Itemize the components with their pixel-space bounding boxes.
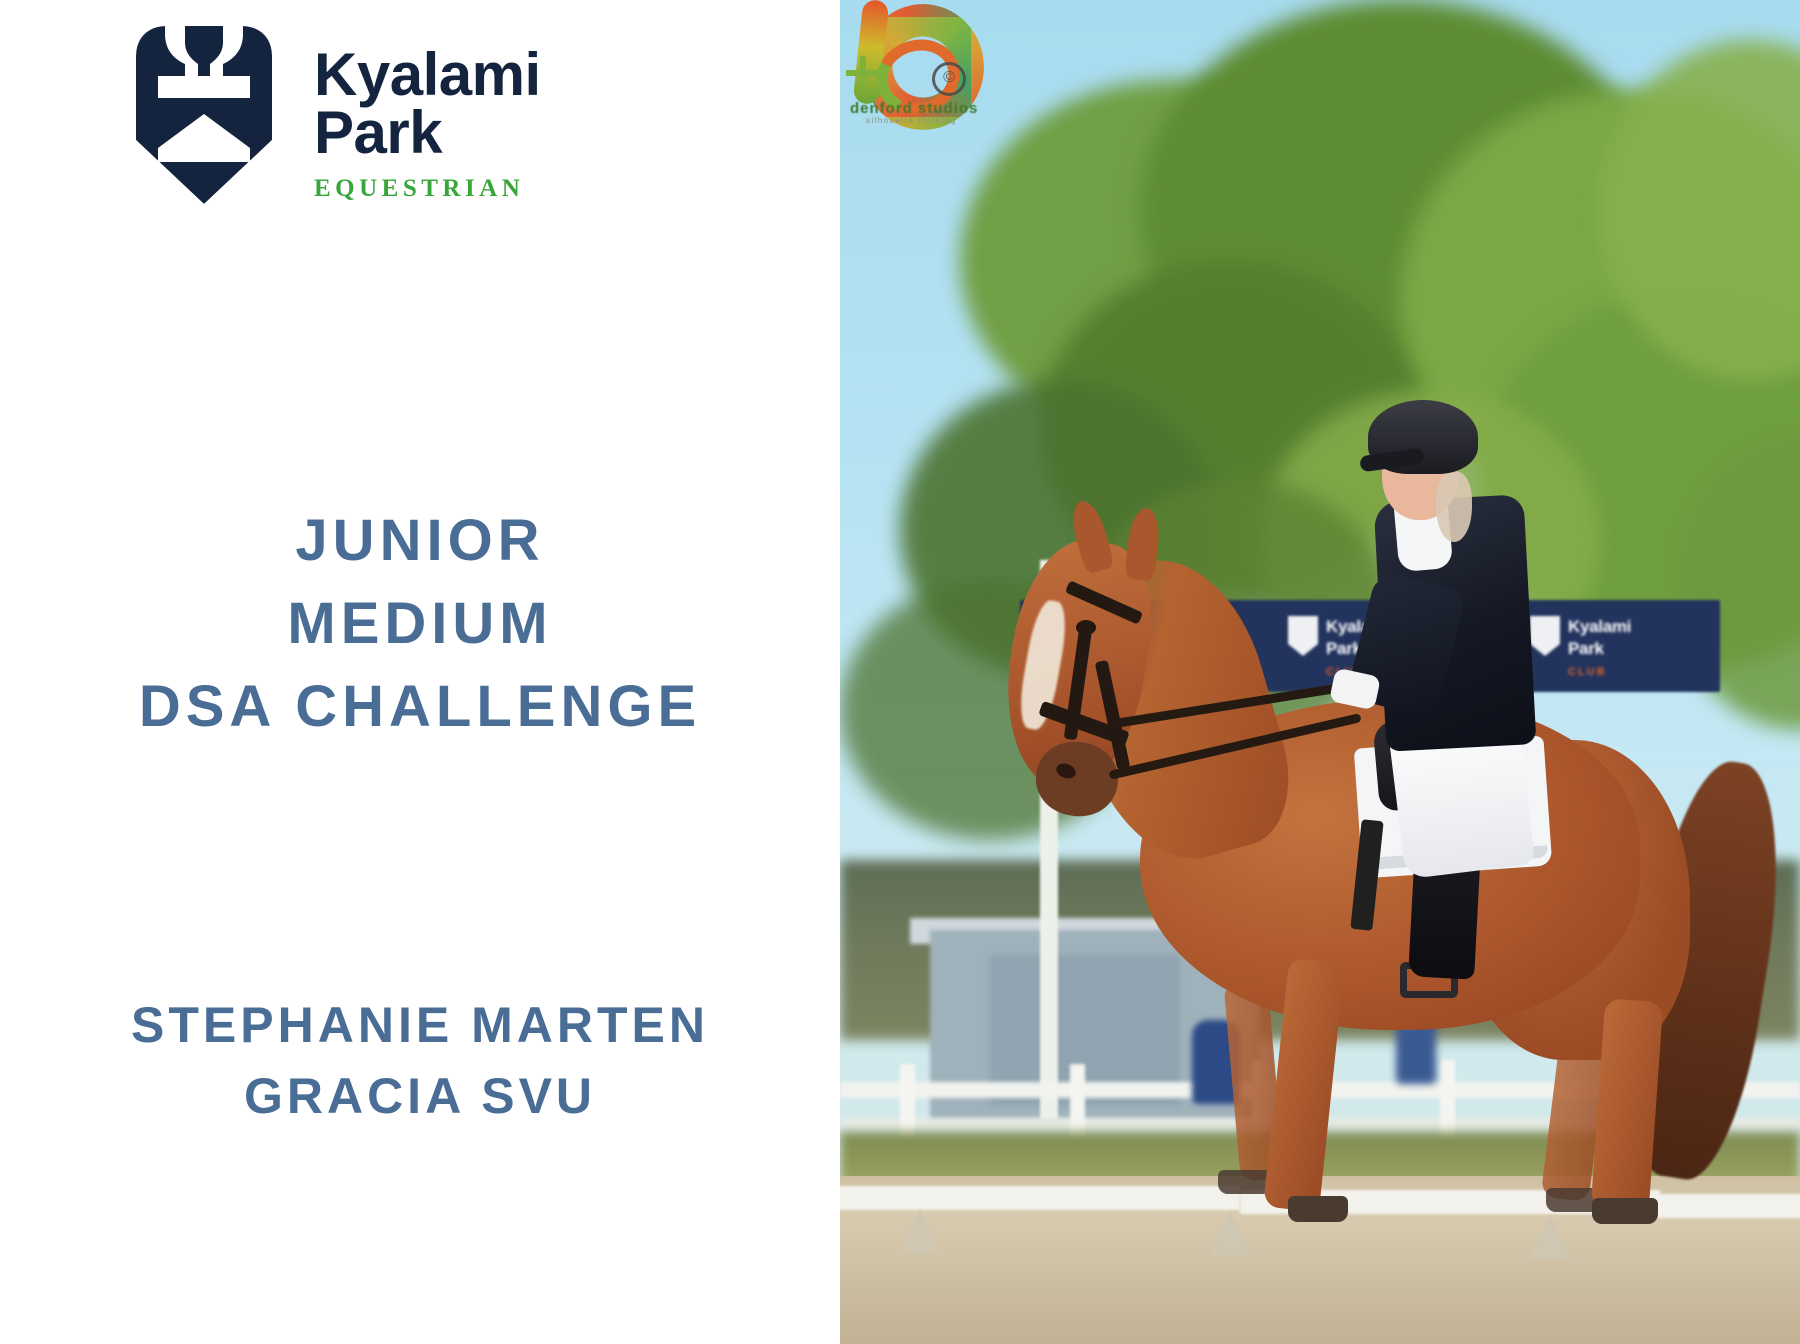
brand-text: Kyalami Park EQUESTRIAN (314, 22, 541, 203)
brand-tagline: EQUESTRIAN (314, 175, 541, 203)
left-text-panel: Kyalami Park EQUESTRIAN JUNIOR MEDIUM DS… (0, 0, 840, 1344)
watermark-studio-name: denford studios (850, 100, 978, 117)
rider-hair (1436, 472, 1472, 542)
brand-lockup: Kyalami Park EQUESTRIAN (128, 22, 541, 208)
horse-and-rider (840, 0, 1800, 1344)
rider-block: STEPHANIE MARTEN GRACIA SVU (0, 990, 840, 1132)
headline-block: JUNIOR MEDIUM DSA CHALLENGE (0, 500, 840, 749)
headline-line-3: DSA CHALLENGE (0, 666, 840, 749)
watermark-tagline: silhouette clothing (866, 116, 957, 125)
headline-line-2: MEDIUM (0, 583, 840, 666)
photographer-watermark: © denford studios silhouette clothing (840, 0, 1020, 146)
horse-hoof (1288, 1196, 1348, 1222)
poster-canvas: Kyalami Park EQUESTRIAN JUNIOR MEDIUM DS… (0, 0, 1800, 1344)
rider-name: STEPHANIE MARTEN (0, 990, 840, 1061)
brand-name-line2: Park (314, 104, 541, 162)
event-photograph: Kyalami Park CLUB Kyalami Park CLUB Kyal… (840, 0, 1800, 1344)
kyalami-shield-horses-icon (128, 22, 280, 208)
copyright-icon: © (932, 62, 966, 96)
horse-name: GRACIA SVU (0, 1061, 840, 1132)
headline-line-1: JUNIOR (0, 500, 840, 583)
watermark-cross-icon (846, 56, 880, 90)
brand-name-line1: Kyalami (314, 46, 541, 104)
horse-hoof (1592, 1198, 1658, 1224)
